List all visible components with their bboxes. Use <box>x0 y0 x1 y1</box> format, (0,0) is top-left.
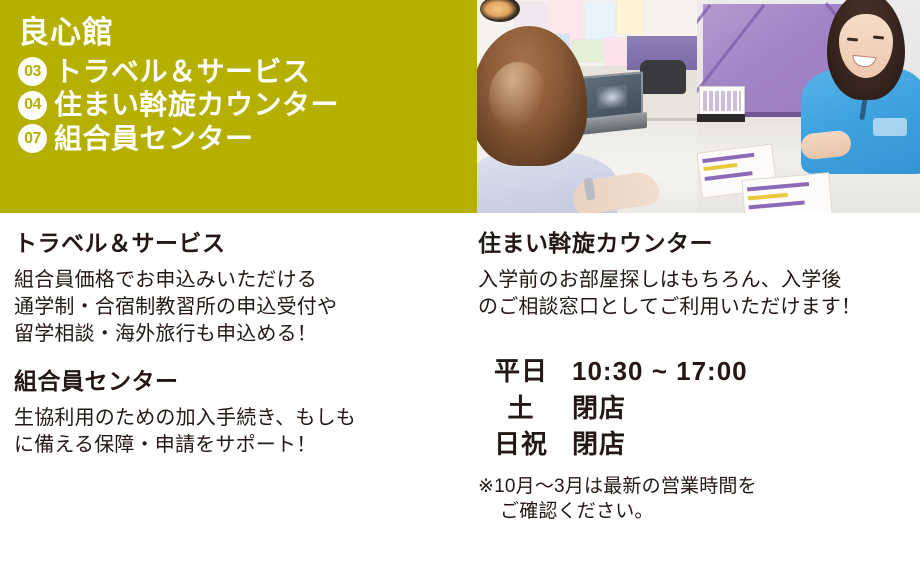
brochure-stripe <box>749 200 805 209</box>
poster <box>605 38 629 66</box>
body-line: 組合員価格でお申込みいただける <box>14 267 464 294</box>
business-hours-table: 平日 10:30 ~ 17:00 土 閉店 日祝 閉店 <box>478 355 748 465</box>
calendar-grid <box>703 91 741 111</box>
page-title: 良心館 <box>18 16 477 50</box>
poster <box>617 0 643 34</box>
brochure-stripe <box>702 153 754 163</box>
body-line: 通学制・合宿制教習所の申込受付や <box>14 294 464 321</box>
hours-note: ※10月〜3月は最新の営業時間を ご確認ください。 <box>478 475 908 524</box>
hours-day-label: 土 <box>478 392 564 429</box>
room-number-badge-icon: 04 <box>18 91 47 120</box>
room-item-03[interactable]: 03 トラベル＆サービス <box>18 57 477 86</box>
housing-counter-photo <box>697 0 920 213</box>
body-line: 入学前のお部屋探しはもちろん、入学後 <box>478 267 908 294</box>
room-list: 03 トラベル＆サービス 04 住まい斡旋カウンター 07 組合員センター <box>18 57 477 153</box>
hours-day-label: 日祝 <box>478 428 564 465</box>
brochure-stripe <box>747 182 809 191</box>
photo-strip <box>477 0 920 213</box>
hours-value: 10:30 ~ 17:00 <box>564 355 748 392</box>
room-item-04[interactable]: 04 住まい斡旋カウンター <box>18 90 477 119</box>
section-body: 生協利用のための加入手続き、もしも に備える保障・申請をサポート！ <box>14 405 464 459</box>
member-center-section: 組合員センター 生協利用のための加入手続き、もしも に備える保障・申請をサポート… <box>14 367 464 459</box>
table-row: 土 閉店 <box>478 392 748 429</box>
content-area: トラベル＆サービス 組合員価格でお申込みいただける 通学制・合宿制教習所の申込受… <box>0 213 920 575</box>
poster <box>573 40 603 62</box>
brochure-stripe <box>748 193 788 200</box>
poster <box>585 1 615 41</box>
room-number-badge-icon: 07 <box>18 124 47 153</box>
hours-day-label: 平日 <box>478 355 564 392</box>
brochure-stripe <box>703 163 737 171</box>
section-body: 組合員価格でお申込みいただける 通学制・合宿制教習所の申込受付や 留学相談・海外… <box>14 267 464 348</box>
room-label: 組合員センター <box>54 124 254 153</box>
travel-service-section: トラベル＆サービス 組合員価格でお申込みいただける 通学制・合宿制教習所の申込受… <box>14 229 464 348</box>
hours-value: 閉店 <box>564 392 748 429</box>
hours-value: 閉店 <box>564 428 748 465</box>
left-column: トラベル＆サービス 組合員価格でお申込みいただける 通学制・合宿制教習所の申込受… <box>14 229 464 459</box>
note-line-2: ご確認ください。 <box>478 500 908 525</box>
calendar-stand <box>697 114 745 122</box>
body-line: 生協利用のための加入手続き、もしも <box>14 405 464 432</box>
section-heading: トラベル＆サービス <box>14 229 464 258</box>
brochure <box>741 172 832 213</box>
body-line: のご相談窓口としてご利用いただけます！ <box>478 294 908 321</box>
section-body: 入学前のお部屋探しはもちろん、入学後 のご相談窓口としてご利用いただけます！ <box>478 267 908 321</box>
table-row: 平日 10:30 ~ 17:00 <box>478 355 748 392</box>
screen-glow <box>597 85 627 110</box>
section-heading: 組合員センター <box>14 367 464 396</box>
room-label: 住まい斡旋カウンター <box>54 90 339 119</box>
section-spacer <box>14 348 464 367</box>
hair-highlight <box>489 62 547 132</box>
header-olive-panel: 良心館 03 トラベル＆サービス 04 住まい斡旋カウンター 07 組合員センタ… <box>0 0 477 213</box>
section-heading: 住まい斡旋カウンター <box>478 229 908 258</box>
housing-counter-section: 住まい斡旋カウンター 入学前のお部屋探しはもちろん、入学後 のご相談窓口としてご… <box>478 229 908 321</box>
header-banner: 良心館 03 トラベル＆サービス 04 住まい斡旋カウンター 07 組合員センタ… <box>0 0 920 213</box>
travel-service-desk-photo <box>477 0 697 213</box>
note-line-1: ※10月〜3月は最新の営業時間を <box>478 476 757 497</box>
right-column: 住まい斡旋カウンター 入学前のお部屋探しはもちろん、入学後 のご相談窓口としてご… <box>478 229 908 525</box>
room-number-badge-icon: 03 <box>18 57 47 86</box>
table-row: 日祝 閉店 <box>478 428 748 465</box>
body-line: 留学相談・海外旅行も申込める！ <box>14 321 464 348</box>
room-label: トラベル＆サービス <box>54 57 311 86</box>
jacket-logo <box>873 118 907 136</box>
room-item-07[interactable]: 07 組合員センター <box>18 124 477 153</box>
office-chair <box>640 60 686 94</box>
body-line: に備える保障・申請をサポート！ <box>14 432 464 459</box>
